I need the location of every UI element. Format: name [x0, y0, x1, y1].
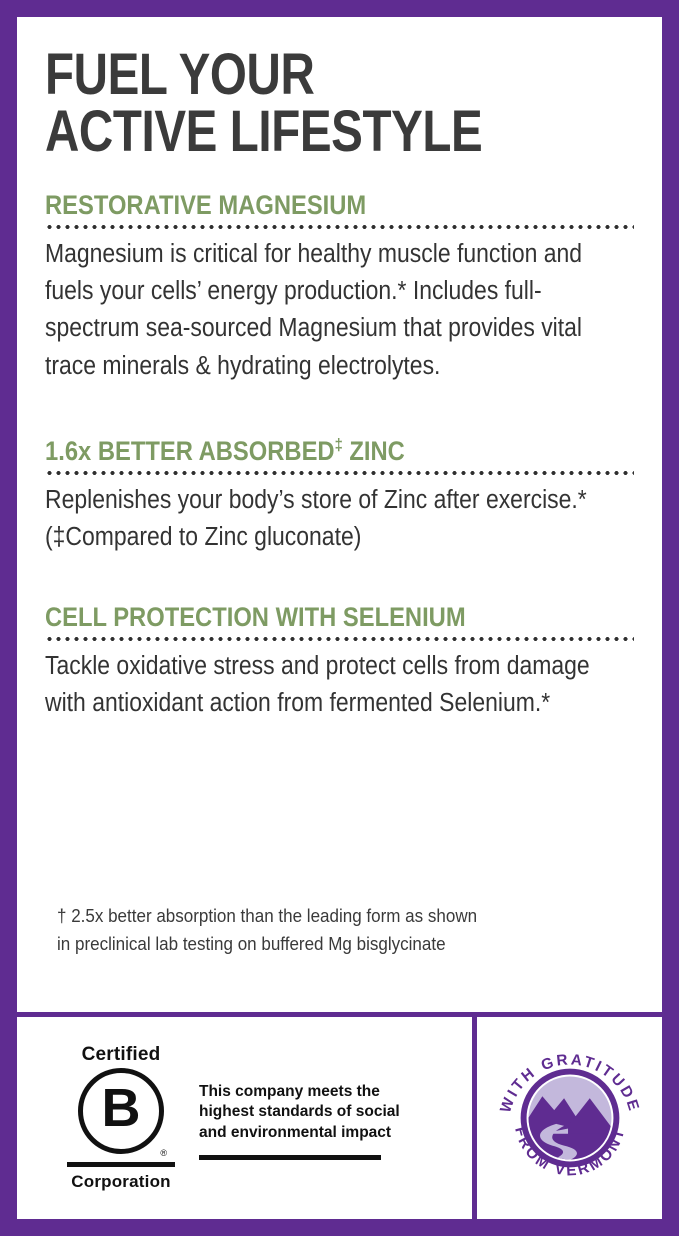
dotted-divider — [45, 225, 634, 229]
bcorp-statement-rule — [199, 1155, 381, 1160]
section-heading-zinc-main: 1.6x BETTER ABSORBED — [45, 436, 335, 466]
section-heading-zinc: 1.6x BETTER ABSORBED‡ ZINC — [45, 437, 563, 465]
section-heading-zinc-tail: ZINC — [343, 436, 405, 466]
label-footer: Certified B ® Corporation This company m… — [17, 1012, 662, 1219]
label-content: FUEL YOUR ACTIVE LIFESTYLE RESTORATIVE M… — [17, 17, 662, 967]
bcorp-mark: Certified B ® Corporation — [67, 1044, 175, 1192]
bcorp-circle-icon: B ® — [78, 1068, 164, 1154]
section-zinc: 1.6x BETTER ABSORBED‡ ZINC Replenishes y… — [45, 437, 634, 557]
product-label-panel: FUEL YOUR ACTIVE LIFESTYLE RESTORATIVE M… — [0, 0, 679, 1236]
bcorp-region: Certified B ® Corporation This company m… — [17, 1017, 472, 1219]
vermont-seal-region: WITH GRATITUDE FROM VERMONT — [477, 1017, 662, 1219]
dotted-divider — [45, 637, 634, 641]
section-body-magnesium: Magnesium is critical for healthy muscle… — [45, 236, 633, 385]
bcorp-letter-b: B — [102, 1081, 141, 1135]
dotted-divider — [45, 471, 634, 475]
bcorp-statement-block: This company meets the highest standards… — [199, 1044, 400, 1160]
vermont-gratitude-seal-icon: WITH GRATITUDE FROM VERMONT — [491, 1039, 649, 1197]
spacer — [45, 411, 634, 437]
section-heading-selenium: CELL PROTECTION WITH SELENIUM — [45, 603, 563, 631]
bcorp-statement: This company meets the highest standards… — [199, 1082, 400, 1143]
section-selenium: CELL PROTECTION WITH SELENIUM Tackle oxi… — [45, 603, 634, 723]
bcorp-corporation-label: Corporation — [67, 1172, 175, 1192]
bcorp-logo: Certified B ® Corporation This company m… — [67, 1044, 400, 1192]
section-body-zinc: Replenishes your body’s store of Zinc af… — [45, 482, 633, 556]
section-body-selenium: Tackle oxidative stress and protect cell… — [45, 648, 633, 722]
bcorp-rule — [67, 1162, 175, 1167]
page-title: FUEL YOUR ACTIVE LIFESTYLE — [45, 47, 528, 161]
bcorp-certified-label: Certified — [67, 1044, 175, 1066]
section-heading-magnesium: RESTORATIVE MAGNESIUM — [45, 191, 563, 219]
registered-mark: ® — [160, 1148, 167, 1158]
section-magnesium: RESTORATIVE MAGNESIUM Magnesium is criti… — [45, 191, 634, 385]
spacer — [45, 583, 634, 603]
footnote-text: † 2.5x better absorption than the leadin… — [57, 902, 588, 958]
